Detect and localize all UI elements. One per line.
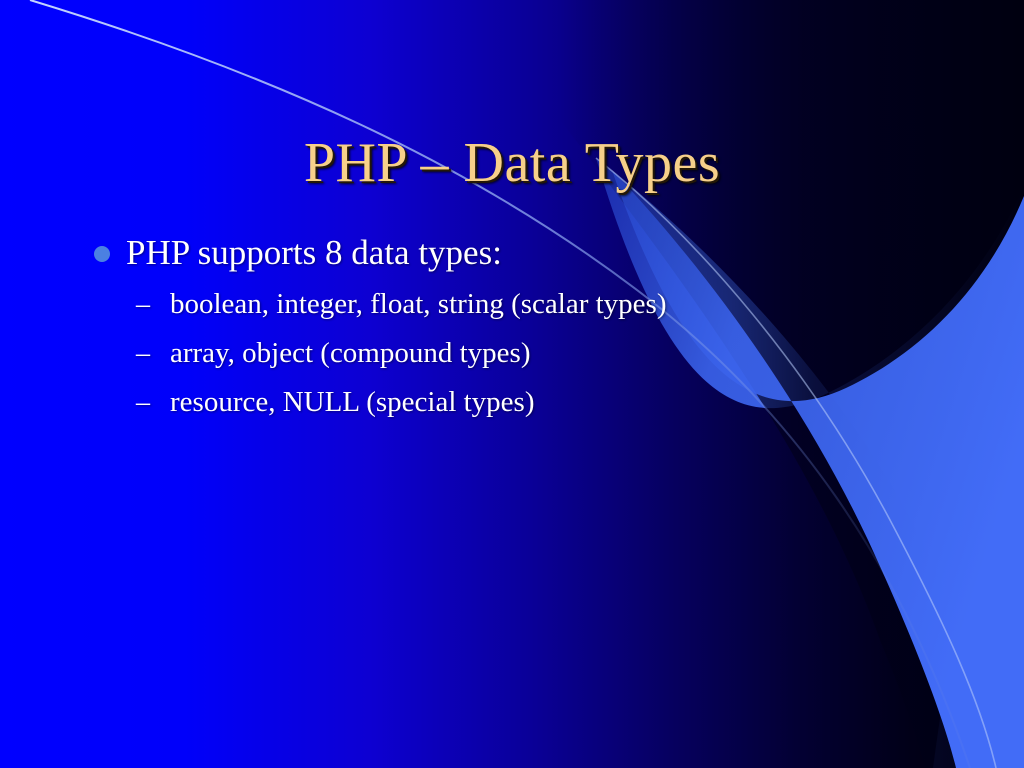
bullet-level2: – resource, NULL (special types): [86, 385, 966, 420]
bullet-level1: PHP supports 8 data types:: [86, 232, 966, 273]
bullet-level2-label: resource, NULL (special types): [170, 385, 535, 420]
sub-bullet-list: – boolean, integer, float, string (scala…: [86, 287, 966, 419]
bullet-level2-label: array, object (compound types): [170, 336, 531, 371]
bullet-level2: – boolean, integer, float, string (scala…: [86, 287, 966, 322]
dash-marker-icon: –: [136, 386, 150, 420]
title-area: PHP – Data Types: [0, 96, 1024, 230]
bullet-level2: – array, object (compound types): [86, 336, 966, 371]
dash-marker-icon: –: [136, 288, 150, 322]
bullet-circle-icon: [94, 246, 110, 262]
bullet-level2-label: boolean, integer, float, string (scalar …: [170, 287, 667, 322]
dash-marker-icon: –: [136, 337, 150, 371]
presentation-slide: PHP – Data Types PHP supports 8 data typ…: [0, 0, 1024, 768]
page-title: PHP – Data Types: [304, 134, 720, 193]
bullet-level1-label: PHP supports 8 data types:: [126, 232, 502, 273]
slide-body: PHP supports 8 data types: – boolean, in…: [86, 232, 966, 434]
